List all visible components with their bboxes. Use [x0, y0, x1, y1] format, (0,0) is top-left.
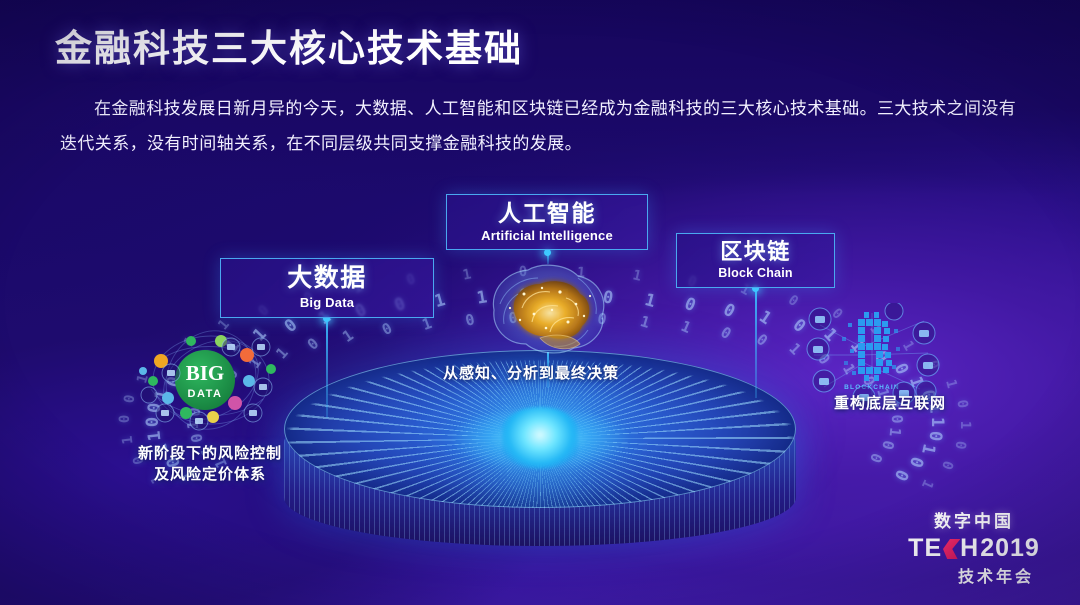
slide-canvas: 1010010110010101101001101010010110010101…: [0, 0, 1080, 605]
background-vignette: [0, 0, 1080, 605]
